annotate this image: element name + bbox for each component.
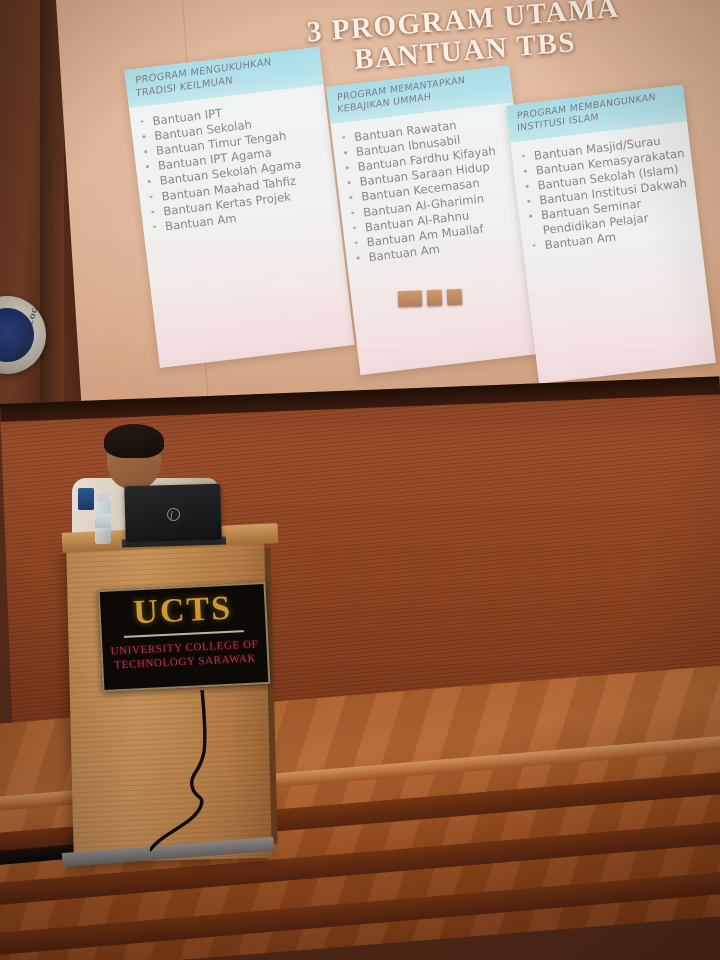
- wall-plate[interactable]: [427, 290, 443, 307]
- presentation-photo: TECHNOLOGY 3 PROGRAM UTAMA BANTUAN TBS P…: [0, 0, 720, 960]
- sign-divider: [124, 630, 244, 637]
- ucts-acronym: UCTS: [108, 590, 257, 631]
- laptop-lid[interactable]: [124, 484, 222, 543]
- slide-column-3: Program Membangunkan Institusi Islam Ban…: [506, 85, 716, 384]
- slide-column-3-list: Bantuan Masjid/Surau Bantuan Kemasyaraka…: [510, 121, 701, 261]
- presenter-badge: [78, 488, 94, 510]
- laptop-brand-logo-icon: [166, 507, 179, 520]
- wall-plate[interactable]: [447, 289, 463, 306]
- water-bottle-label: [95, 514, 111, 528]
- slide-column-2-list: Bantuan Rawatan Bantuan Ibnusabil Bantua…: [331, 102, 532, 274]
- slide-column-1: Program Mengukuhkan Tradisi Keilmuan Ban…: [124, 47, 354, 368]
- projected-slide: 3 PROGRAM UTAMA BANTUAN TBS Program Meng…: [130, 0, 720, 427]
- slide-column-1-list: Bantuan IPT Bantuan Sekolah Bantuan Timu…: [129, 85, 340, 243]
- wall-switch-plates: [398, 289, 463, 307]
- water-bottle-cap: [98, 494, 108, 502]
- ucts-full-name: University College of Technology Sarawak: [110, 637, 259, 674]
- presenter-hair: [104, 424, 164, 458]
- wall-plate[interactable]: [398, 290, 423, 307]
- ucts-podium-sign: UCTS University College of Technology Sa…: [98, 582, 271, 692]
